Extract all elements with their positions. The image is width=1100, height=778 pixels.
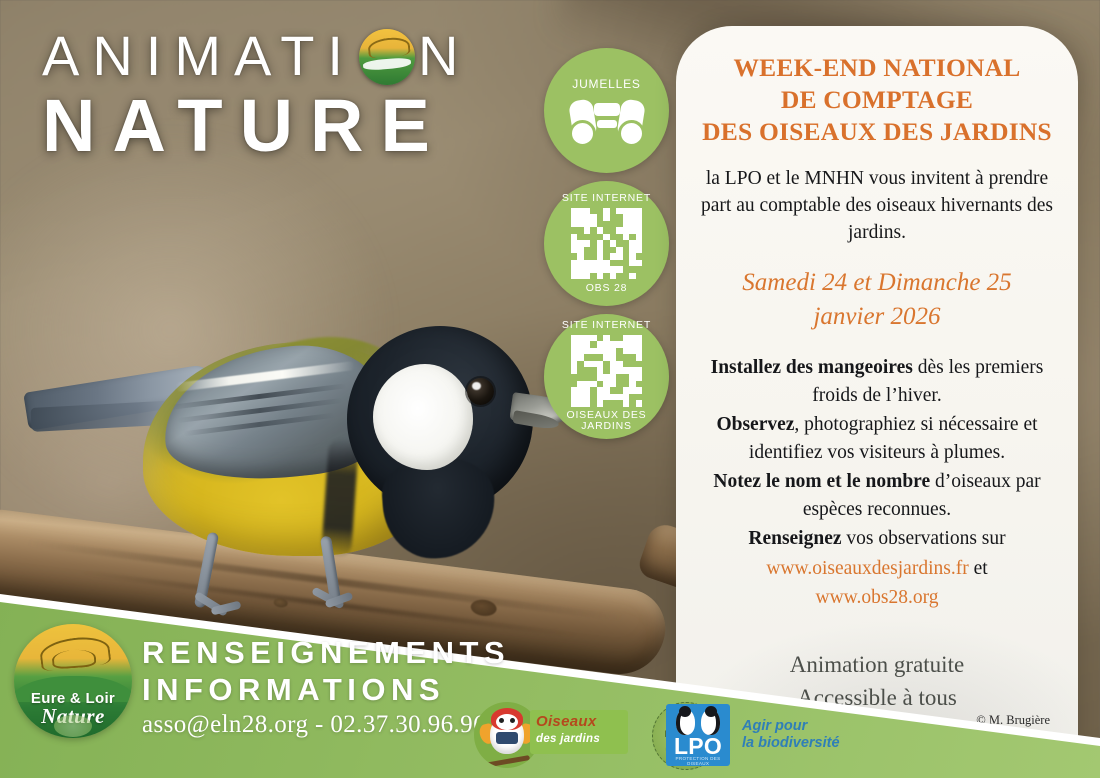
binoculars-icon bbox=[570, 97, 644, 143]
lpo-tagline: Agir pour la biodiversité bbox=[742, 718, 840, 752]
poster-canvas: ANIMATIN NATURE JUMELLES SITE INTERNET O… bbox=[0, 0, 1100, 778]
footer-heading-1: RENSEIGNEMENTS bbox=[142, 634, 510, 671]
eln-circle-logo-icon bbox=[359, 29, 415, 85]
footer-text-block: RENSEIGNEMENTS INFORMATIONS asso@eln28.o… bbox=[142, 634, 510, 739]
footer-contact[interactable]: asso@eln28.org - 02.37.30.96.96 bbox=[142, 711, 510, 739]
site-obs28-badge[interactable]: SITE INTERNET OBS 28 bbox=[544, 181, 669, 306]
eln-logo-seal-icon bbox=[54, 715, 92, 737]
obs28-badge-caption-top: SITE INTERNET bbox=[562, 193, 651, 205]
lpo-logo[interactable]: LPO PROTECTION DES OISEAUX bbox=[666, 704, 730, 766]
oiseaux-des-jardins-wordmark: Oiseaux des jardins bbox=[530, 710, 628, 754]
panel-title-line-2: DE COMPTAGE bbox=[698, 84, 1056, 116]
instruction-item: Renseignez vos observations sur bbox=[698, 525, 1056, 553]
event-dates-line-1: Samedi 24 et Dimanche 25 bbox=[698, 266, 1056, 300]
panel-intro-text: la LPO et le MNHN vous invitent à prendr… bbox=[698, 165, 1056, 246]
instruction-item: Installez des mangeoires dès les premier… bbox=[698, 354, 1056, 409]
lpo-tagline-line-2: la biodiversité bbox=[742, 735, 840, 752]
event-dates: Samedi 24 et Dimanche 25 janvier 2026 bbox=[698, 266, 1056, 334]
instruction-item: Notez le nom et le nombre d’oiseaux par … bbox=[698, 468, 1056, 523]
odj-line-1: Oiseaux bbox=[536, 713, 596, 730]
instruction-rest: vos observations sur bbox=[842, 528, 1006, 549]
odj-line-2: des jardins bbox=[536, 733, 600, 745]
instruction-bold: Observez bbox=[716, 414, 794, 435]
instruction-bold: Renseignez bbox=[748, 528, 841, 549]
qr-code-icon[interactable] bbox=[571, 335, 643, 407]
obs28-badge-caption-bottom: OBS 28 bbox=[586, 283, 628, 295]
instruction-item: Observez, photographiez si nécessaire et… bbox=[698, 411, 1056, 466]
eure-et-loir-nature-logo[interactable]: Eure & Loir Nature bbox=[14, 624, 132, 738]
oiseaux-badge-caption-bottom: OISEAUX DES JARDINS bbox=[544, 410, 669, 433]
instruction-bold: Installez des mangeoires bbox=[711, 357, 913, 378]
badge-column: JUMELLES SITE INTERNET OBS 28 SITE INTER… bbox=[544, 48, 674, 447]
panel-title: WEEK-END NATIONAL DE COMPTAGE DES OISEAU… bbox=[698, 52, 1056, 148]
jumelles-badge[interactable]: JUMELLES bbox=[544, 48, 669, 173]
qr-code-icon[interactable] bbox=[571, 208, 643, 280]
panel-title-line-1: WEEK-END NATIONAL bbox=[698, 52, 1056, 84]
great-tit-bird bbox=[25, 320, 545, 620]
instruction-list: Installez des mangeoires dès les premier… bbox=[698, 354, 1056, 612]
footer-heading-2: INFORMATIONS bbox=[142, 671, 510, 708]
lpo-subtitle: PROTECTION DES OISEAUX bbox=[666, 756, 730, 766]
panel-title-line-3: DES OISEAUX DES JARDINS bbox=[698, 116, 1056, 148]
instruction-bold: Notez le nom et le nombre bbox=[713, 471, 930, 492]
site-oiseaux-badge[interactable]: SITE INTERNET OISEAUX DES JARDINS bbox=[544, 314, 669, 439]
event-dates-line-2: janvier 2026 bbox=[698, 300, 1056, 334]
lpo-wordmark: LPO bbox=[666, 734, 730, 758]
partner-logos: Oiseaux des jardins MUSÉUM NATIONAL D'HI… bbox=[470, 700, 890, 778]
jumelles-badge-caption: JUMELLES bbox=[572, 78, 640, 90]
link-separator: et bbox=[969, 558, 988, 579]
link-oiseauxdesjardins[interactable]: www.oiseauxdesjardins.fr bbox=[766, 558, 968, 579]
oiseaux-badge-caption-top: SITE INTERNET bbox=[562, 320, 651, 332]
lpo-tagline-line-1: Agir pour bbox=[742, 718, 840, 735]
